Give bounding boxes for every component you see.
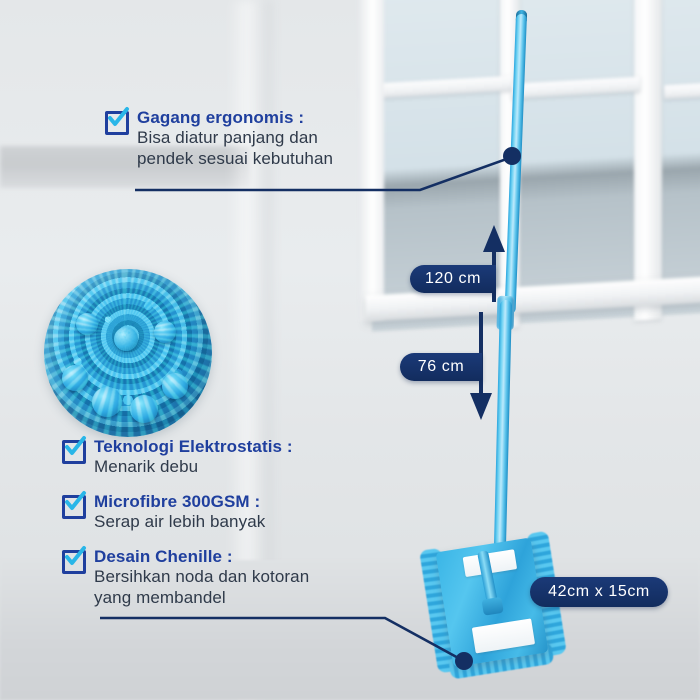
dimension-arrow-down-76 [470,393,492,420]
feature-line: Menarik debu [94,457,293,476]
feature-microfibre-300gsm: Microfibre 300GSM : Serap air lebih bany… [62,492,265,532]
feature-line: Bisa diatur panjang dan [137,128,333,147]
feature-line: Bersihkan noda dan kotoran [94,567,309,586]
dimension-label-handle-min: 76 cm [400,353,482,381]
checkbox-checked-icon [62,440,84,462]
feature-gagang-ergonomis: Gagang ergonomis : Bisa diatur panjang d… [105,108,333,168]
feature-teknologi-elektrostatis: Teknologi Elektrostatis : Menarik debu [62,437,293,477]
checkbox-checked-icon [62,495,84,517]
dimension-arrow-up-120 [483,225,505,252]
dimension-label-handle-max: 120 cm [410,265,496,293]
feature-heading: Gagang ergonomis : [137,108,333,127]
leader-dot-chenille [455,652,473,670]
feature-heading: Microfibre 300GSM : [94,492,265,511]
dimension-label-head-size: 42cm x 15cm [530,577,668,607]
leader-line-chenille [100,618,462,660]
checkbox-checked-icon [105,111,127,133]
feature-line: Serap air lebih banyak [94,512,265,531]
feature-desain-chenille: Desain Chenille : Bersihkan noda dan kot… [62,547,309,607]
product-infographic: Gagang ergonomis : Bisa diatur panjang d… [0,0,700,700]
feature-line: pendek sesuai kebutuhan [137,149,333,168]
checkbox-checked-icon [62,550,84,572]
feature-heading: Desain Chenille : [94,547,309,566]
leader-dot-handle [503,147,521,165]
feature-line: yang membandel [94,588,309,607]
feature-heading: Teknologi Elektrostatis : [94,437,293,456]
